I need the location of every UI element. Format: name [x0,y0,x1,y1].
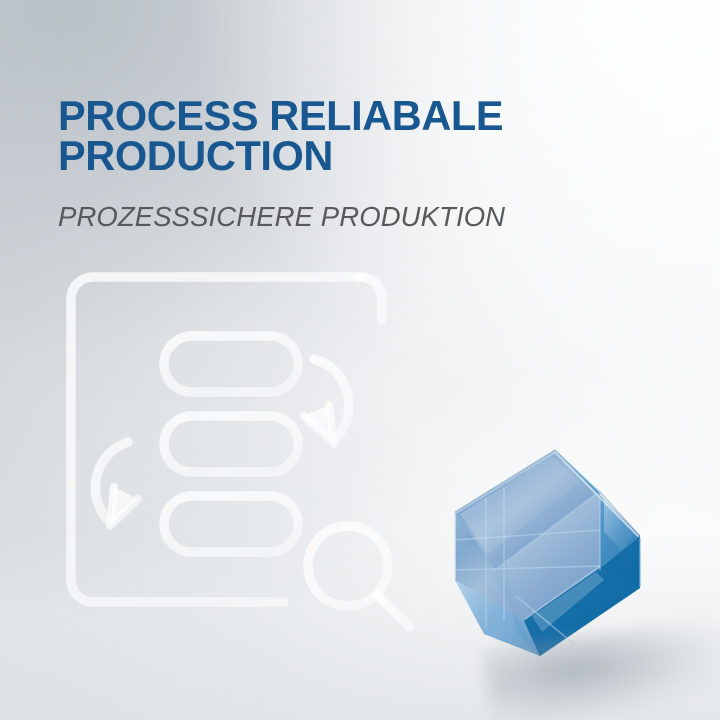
promo-graphic-canvas: PROCESS RELIABALE PRODUCTION PROZESSSICH… [0,0,720,720]
headline-block: PROCESS RELIABALE PRODUCTION PROZESSSICH… [58,96,658,232]
page-title: PROCESS RELIABALE PRODUCTION [58,96,658,176]
page-subtitle: PROZESSSICHERE PRODUKTION [58,202,658,232]
glass-cube [424,420,714,720]
